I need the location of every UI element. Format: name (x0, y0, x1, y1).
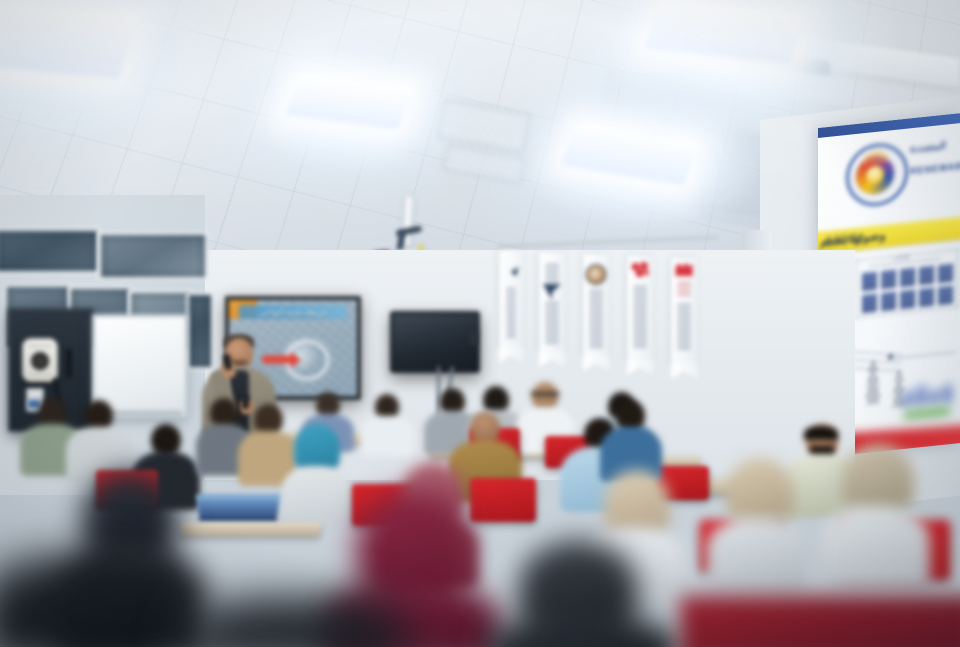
seminar-room-photo: المتجددة RENEWABLE وضوئية بحجم 4 kWp ~ 2… (0, 0, 960, 647)
hijab (604, 470, 670, 536)
banner-flag-2 (539, 252, 565, 352)
banner-flag-5 (671, 258, 697, 364)
hijab (842, 444, 914, 514)
solar-panel-icon (899, 267, 916, 289)
person-torso (0, 556, 170, 647)
person-torso (706, 518, 806, 594)
audience-person (820, 444, 930, 584)
stacked-folders (196, 494, 280, 524)
red-cluster-mark-icon (631, 262, 649, 278)
solar-panel-icon (937, 263, 954, 285)
person-torso (360, 416, 414, 456)
person-torso (820, 506, 930, 590)
tv-wall-mount (470, 331, 477, 345)
triangle-mark-icon (543, 284, 561, 300)
calligraphy-mark-icon (504, 264, 519, 280)
solar-array-group: ~ 25 m² (856, 249, 958, 318)
audience-person (600, 400, 662, 480)
solar-panel-icon (861, 293, 878, 315)
person-hair (804, 426, 838, 440)
window-transom-pane (98, 232, 208, 280)
person-torso (488, 618, 678, 647)
hijab (726, 458, 794, 526)
banner-flag-3 (583, 254, 609, 356)
poster-org-name-en: RENEWABLE (910, 159, 960, 176)
audience-person-foreground (186, 596, 406, 647)
audience-person (706, 458, 806, 588)
slide-title: خريطة بلدية النواحي (239, 305, 347, 319)
audience-person (66, 400, 132, 480)
poster-org-name-ar: المتجددة (910, 141, 946, 156)
solar-panel-icon (861, 271, 878, 293)
ceiling-light-panel (0, 3, 137, 78)
audience-person-foreground (488, 540, 678, 647)
solar-panel-icon (918, 265, 935, 287)
poster-bar-chart (904, 381, 958, 409)
audience-person-foreground (0, 556, 170, 647)
poster-logo (846, 136, 910, 207)
eyeglasses-icon (531, 392, 559, 396)
window-transom-pane (0, 228, 100, 274)
hijab (294, 424, 340, 472)
person-torso (186, 596, 406, 647)
banner-group (495, 238, 720, 363)
solar-panel-icon (899, 289, 916, 311)
red-arabic-mark-icon (676, 262, 693, 276)
solar-panel-icon (880, 269, 897, 291)
banner-flag-1 (499, 250, 523, 348)
banner-flag-4 (627, 256, 653, 360)
wall-mounted-tv (390, 311, 480, 373)
solar-inverter-unit (22, 338, 58, 382)
solar-panel-icon (918, 287, 935, 309)
solar-panel-icon (937, 285, 954, 307)
circular-portrait-mark-icon (586, 264, 607, 285)
solar-panel-icon (880, 291, 897, 313)
inverter-cable (66, 348, 72, 378)
chair-foreground (680, 596, 960, 647)
audience-person (360, 394, 414, 454)
